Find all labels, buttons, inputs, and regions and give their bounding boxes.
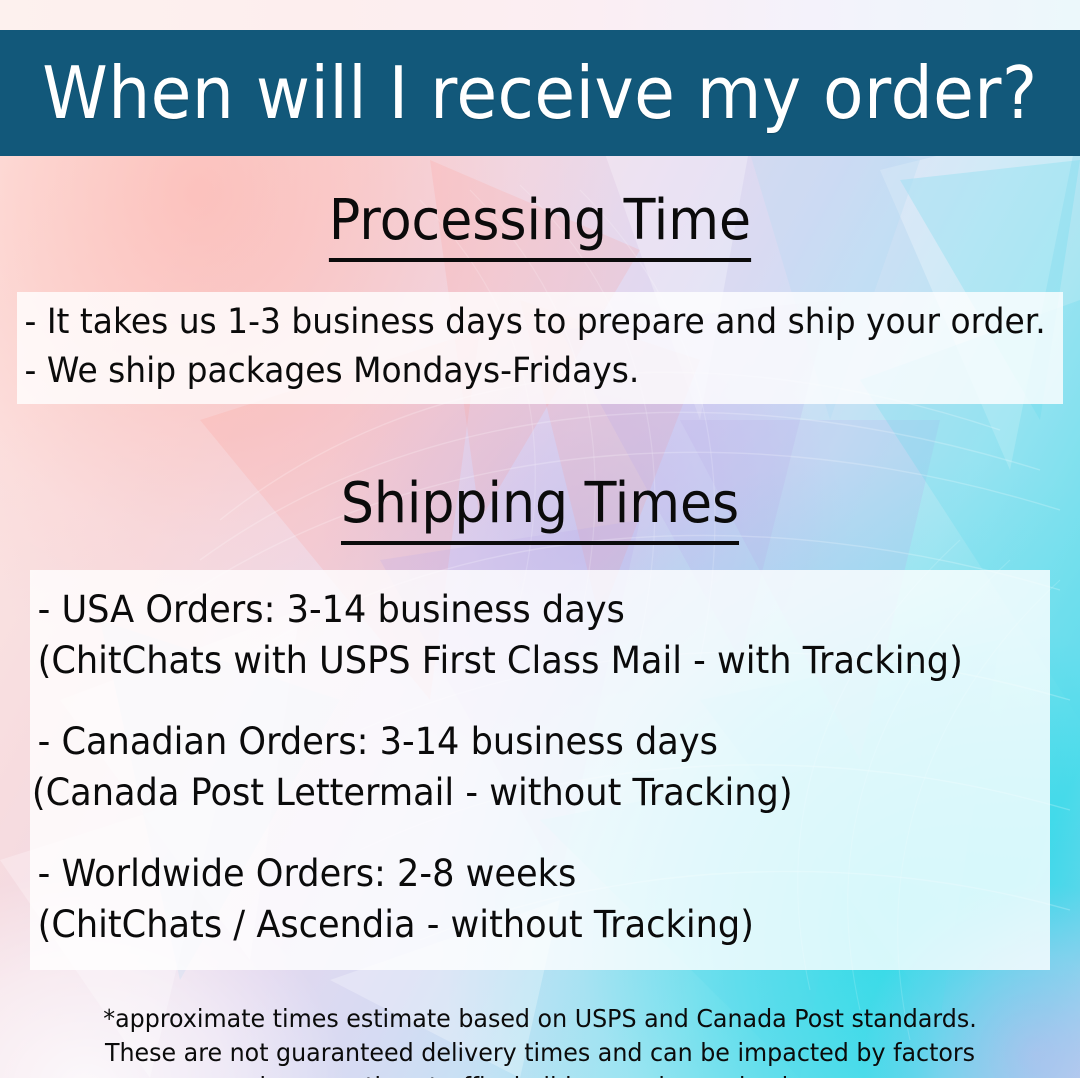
background-top-strip <box>0 0 1080 32</box>
footnote: *approximate times estimate based on USP… <box>27 1002 1053 1078</box>
shipping-usa-line-2: (ChitChats with USPS First Class Mail - … <box>30 635 999 686</box>
footnote-line-3: such as weather, traffic, holidays and p… <box>27 1070 1053 1078</box>
shipping-usa-line-1: - USA Orders: 3-14 business days <box>30 584 999 635</box>
shipping-canada-line-2: (Canada Post Lettermail - without Tracki… <box>30 767 999 818</box>
header-banner: When will I receive my order? <box>0 30 1080 156</box>
section-heading-shipping: Shipping Times <box>38 476 1042 532</box>
processing-line-2: - We ship packages Mondays-Fridays. <box>17 347 1000 396</box>
shipping-group-worldwide: - Worldwide Orders: 2-8 weeks (ChitChats… <box>30 848 1050 950</box>
shipping-group-canada: - Canadian Orders: 3-14 business days (C… <box>30 716 1050 818</box>
content-area: Processing Time - It takes us 1-3 busine… <box>0 156 1080 1078</box>
shipping-times-panel: - USA Orders: 3-14 business days (ChitCh… <box>30 570 1050 970</box>
section-heading-processing-label: Processing Time <box>329 188 751 262</box>
section-heading-processing: Processing Time <box>38 193 1042 249</box>
processing-line-1: - It takes us 1-3 business days to prepa… <box>17 298 1000 347</box>
footnote-line-1: *approximate times estimate based on USP… <box>27 1002 1053 1036</box>
page-title: When will I receive my order? <box>42 57 1037 129</box>
processing-time-panel: - It takes us 1-3 business days to prepa… <box>17 292 1063 404</box>
shipping-canada-line-1: - Canadian Orders: 3-14 business days <box>30 716 999 767</box>
shipping-worldwide-line-2: (ChitChats / Ascendia - without Tracking… <box>30 899 999 950</box>
section-heading-shipping-label: Shipping Times <box>341 471 739 545</box>
shipping-info-poster: When will I receive my order? Processing… <box>0 0 1080 1078</box>
footnote-line-2: These are not guaranteed delivery times … <box>27 1036 1053 1070</box>
shipping-worldwide-line-1: - Worldwide Orders: 2-8 weeks <box>30 848 999 899</box>
shipping-group-usa: - USA Orders: 3-14 business days (ChitCh… <box>30 584 1050 686</box>
